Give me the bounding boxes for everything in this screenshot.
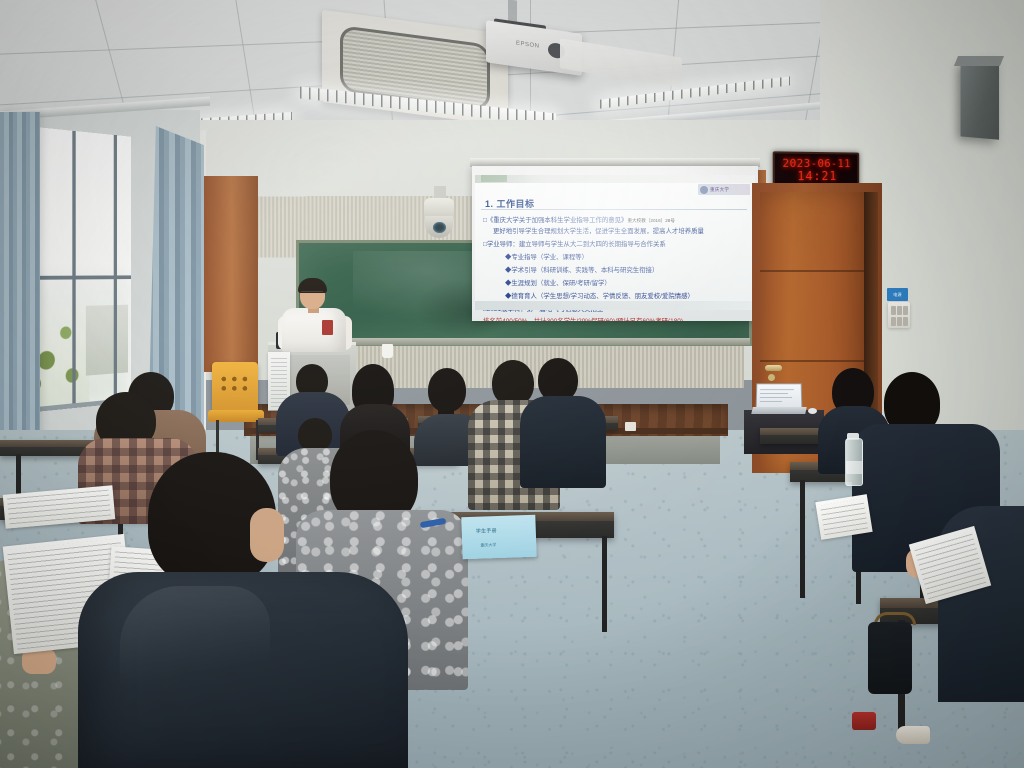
university-logo-text: 重庆大学 — [710, 187, 729, 193]
power-switch-sign: 电源 — [887, 288, 908, 301]
window-view-building — [86, 305, 128, 376]
projector-brand-label: EPSON — [516, 40, 540, 49]
power-switch-sign-label: 电源 — [893, 292, 901, 298]
window-curtain-left[interactable] — [0, 112, 40, 442]
slide-bullet-3: □学业导师：建立导师与学生从大二到大四的长期指导与合作关系 — [483, 241, 666, 248]
camera-lens-icon — [433, 222, 446, 233]
water-bottle-label — [846, 461, 862, 474]
person-ear-cheek — [250, 508, 284, 562]
door-lock-icon[interactable] — [768, 374, 775, 381]
wood-wall-panel-left — [200, 176, 258, 372]
presenter-badge — [322, 320, 333, 335]
red-bag-on-floor — [852, 712, 876, 730]
slide-bullet-2: 更好地引导学生合理规划大学生活，促进学生全面发展，提高人才培养质量 — [493, 228, 704, 235]
presentation-slide: 重庆大学 1. 工作目标 □《重庆大学关于加强本科生学业指导工作的意见》重大校教… — [475, 175, 755, 310]
desk-leg — [602, 536, 607, 632]
shoe — [896, 726, 930, 744]
light-switch-panel[interactable] — [888, 302, 910, 328]
led-clock-time: 14:21 — [797, 169, 837, 182]
slide-bullet-5: ◆学术引导（科研训练、实践等、本科与研究生衔接） — [505, 267, 658, 274]
slide-bullet-6: ◆生涯规划（就业、保研/考研/留学） — [505, 280, 611, 287]
wall-speaker-top — [954, 56, 1004, 66]
wall-speaker — [961, 58, 999, 139]
podium-cup — [382, 344, 393, 358]
slide-bullet-1: □《重庆大学关于加强本科生学业指导工作的意见》重大校教〔2016〕28号 — [483, 217, 675, 224]
slide-header-tab — [481, 175, 507, 182]
black-handbag — [868, 622, 912, 694]
slide-bullet-9-highlight: 排名前400/50%，共计300名学生/20%保研(60)/预计另有60%考研(… — [483, 318, 683, 321]
presenter-torso — [282, 308, 346, 352]
door-handle[interactable] — [765, 365, 782, 371]
slide-bullet-4: ◆专业指导（学业、课程等） — [505, 254, 588, 261]
computer-mouse[interactable] — [808, 408, 817, 414]
person-head — [298, 418, 332, 452]
university-logo-mark-icon — [700, 186, 708, 194]
papers-on-right-desk — [815, 494, 872, 540]
blue-booklet: 学生手册 重庆大学 — [461, 515, 536, 560]
slide-footer-bar — [475, 301, 755, 310]
slide-title-rule — [481, 209, 747, 210]
led-clock-date: 2023-06-11 — [782, 157, 850, 169]
slide-bullet-7: ◆德育育人（学生思想/学习动态、学情反馈、朋友爱校/爱院情感） — [505, 293, 694, 300]
desk-leg — [800, 480, 805, 598]
laptop-keyboard-base[interactable] — [751, 407, 806, 414]
yellow-stacking-chair-back[interactable] — [212, 362, 258, 414]
wall-power-outlet[interactable] — [625, 422, 636, 431]
presenter-glasses-icon — [301, 291, 323, 297]
university-logo: 重庆大学 — [698, 184, 750, 195]
classroom-photo: EPSON 2023-06-11 14:21 重庆大学 — [0, 0, 1024, 768]
blue-booklet-subtitle: 重庆大学 — [480, 542, 496, 549]
slide-header-bar — [475, 175, 755, 183]
jacket-hood-fold — [120, 586, 270, 706]
chalk-tray — [292, 338, 750, 345]
water-bottle — [845, 438, 863, 486]
blue-booklet-title: 学生手册 — [476, 527, 497, 535]
person-torso — [520, 396, 606, 488]
projection-screen: 重庆大学 1. 工作目标 □《重庆大学关于加强本科生学业指导工作的意见》重大校教… — [472, 166, 758, 321]
